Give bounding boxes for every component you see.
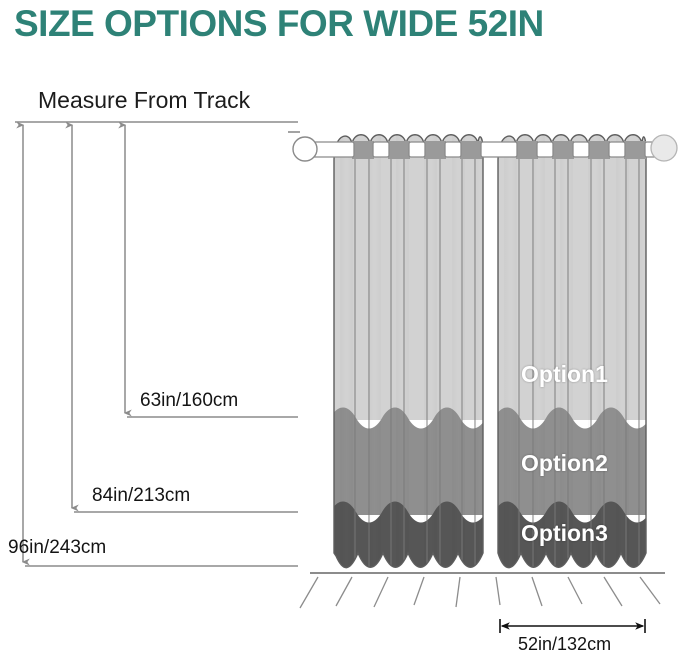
size-options-diagram: SIZE OPTIONS FOR WIDE 52IN Measure From … [0, 0, 679, 660]
rod-finial-left [293, 137, 317, 161]
option-label-1: Option1 [521, 361, 608, 387]
option-label-3: Option3 [521, 520, 608, 546]
dimension-label-52in-width: 52in/132cm [518, 633, 611, 655]
curtain-illustration [0, 0, 679, 660]
rod-finial-right [651, 135, 677, 161]
floor-line-hatching [300, 573, 665, 608]
dimension-label-84in: 84in/213cm [92, 485, 190, 507]
dimension-label-63in: 63in/160cm [140, 390, 238, 412]
dimension-label-96in: 96in/243cm [8, 537, 106, 559]
option-label-2: Option2 [521, 450, 608, 476]
curtain-panel-left [330, 120, 490, 590]
